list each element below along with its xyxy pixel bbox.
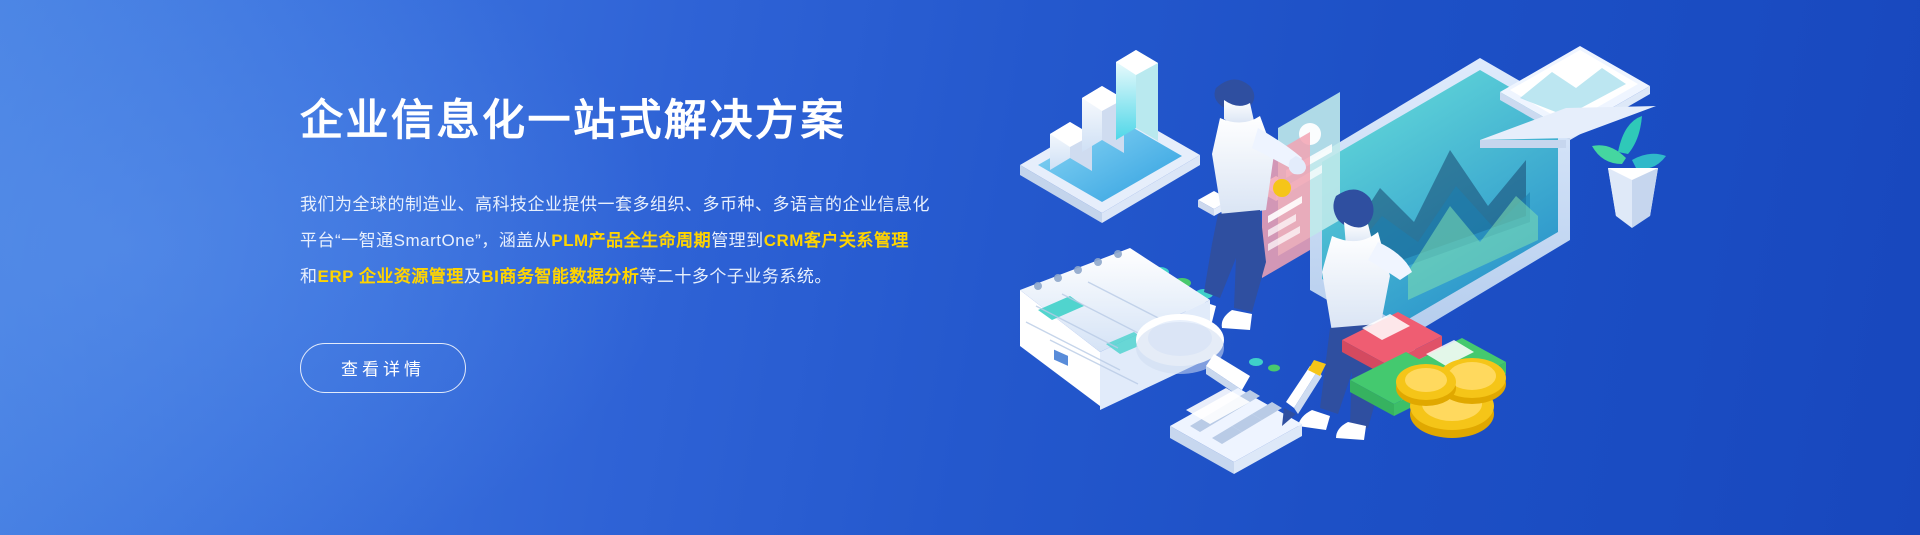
highlight-plm: PLM产品全生命周期 bbox=[551, 231, 711, 250]
paragraph-line-2: 平台“一智通SmartOne”，涵盖从PLM产品全生命周期管理到CRM客户关系管… bbox=[300, 223, 1000, 259]
calculator bbox=[1170, 388, 1302, 474]
paragraph-segment: 我们为全球的制造业、高科技企业提供一套多组织、多币种、多语言的企业信息化 bbox=[300, 195, 930, 214]
dot-trail-secondary bbox=[1249, 358, 1280, 372]
highlight-crm: CRM客户关系管理 bbox=[764, 231, 909, 250]
hero-paragraph: 我们为全球的制造业、高科技企业提供一套多组织、多币种、多语言的企业信息化 平台“… bbox=[300, 187, 1000, 295]
view-details-button[interactable]: 查看详情 bbox=[300, 343, 466, 393]
hero-illustration bbox=[1010, 10, 1710, 530]
paragraph-line-1: 我们为全球的制造业、高科技企业提供一套多组织、多币种、多语言的企业信息化 bbox=[300, 187, 1000, 223]
paragraph-line-3: 和ERP 企业资源管理及BI商务智能数据分析等二十多个子业务系统。 bbox=[300, 259, 1000, 295]
page-title: 企业信息化一站式解决方案 bbox=[300, 96, 1000, 147]
hero-banner: 企业信息化一站式解决方案 我们为全球的制造业、高科技企业提供一套多组织、多币种、… bbox=[0, 0, 1920, 535]
hero-copy-block: 企业信息化一站式解决方案 我们为全球的制造业、高科技企业提供一套多组织、多币种、… bbox=[300, 96, 1000, 393]
paragraph-segment: 平台“一智通SmartOne”，涵盖从 bbox=[300, 231, 551, 250]
paragraph-segment: 及 bbox=[464, 267, 482, 286]
smartphone-bar-chart bbox=[1020, 50, 1200, 223]
gold-coins bbox=[1396, 358, 1506, 438]
highlight-erp: ERP 企业资源管理 bbox=[318, 267, 464, 286]
highlight-bi: BI商务智能数据分析 bbox=[481, 267, 639, 286]
potted-plant bbox=[1592, 116, 1666, 228]
paragraph-segment: 和 bbox=[300, 267, 318, 286]
paragraph-segment: 管理到 bbox=[711, 231, 764, 250]
paragraph-segment: 等二十多个子业务系统。 bbox=[639, 267, 832, 286]
